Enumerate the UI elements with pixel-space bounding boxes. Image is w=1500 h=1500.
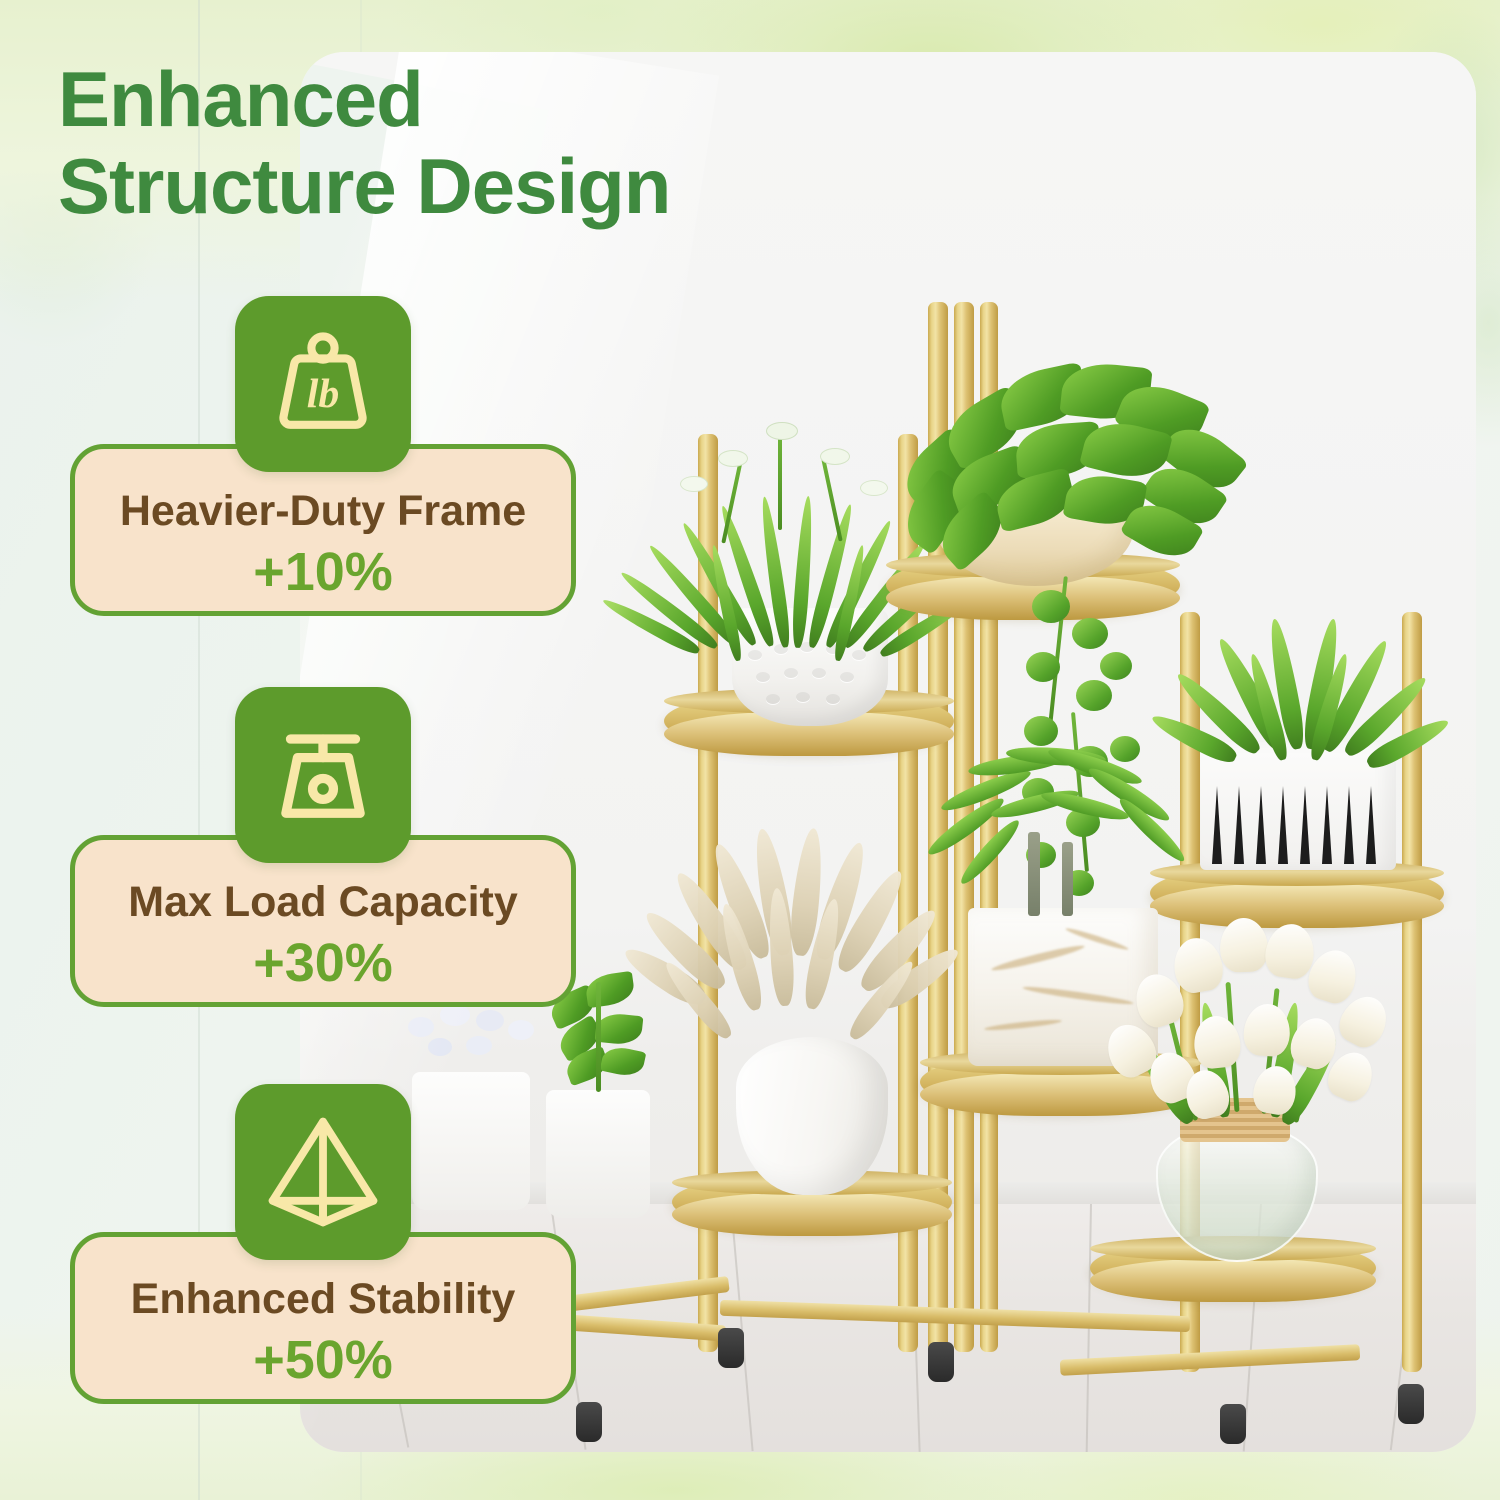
feature-label: Max Load Capacity	[128, 881, 518, 924]
feature-label: Heavier-Duty Frame	[120, 490, 526, 533]
kitchen-scale-icon	[235, 687, 411, 863]
stand-post-right-b	[1402, 612, 1422, 1372]
page-title: Enhanced Structure Design	[58, 56, 798, 231]
stand-foot	[928, 1342, 954, 1382]
page-title-line-2: Structure Design	[58, 143, 798, 230]
page-title-line-1: Enhanced	[58, 56, 798, 143]
stand-foot	[1398, 1384, 1424, 1424]
weight-lb-icon: lb	[235, 296, 411, 472]
infographic-stage: Enhanced Structure Design lb Heavier-Dut…	[0, 0, 1500, 1500]
stand-foot	[718, 1328, 744, 1368]
feature-label: Enhanced Stability	[131, 1278, 516, 1321]
svg-text:lb: lb	[307, 371, 339, 417]
vase-white-ceramic	[736, 1037, 888, 1195]
stand-foot	[576, 1402, 602, 1442]
pyramid-stability-icon	[235, 1084, 411, 1260]
feature-value: +50%	[253, 1333, 393, 1387]
stand-foot	[1220, 1404, 1246, 1444]
feature-value: +10%	[253, 545, 393, 599]
feature-value: +30%	[253, 936, 393, 990]
